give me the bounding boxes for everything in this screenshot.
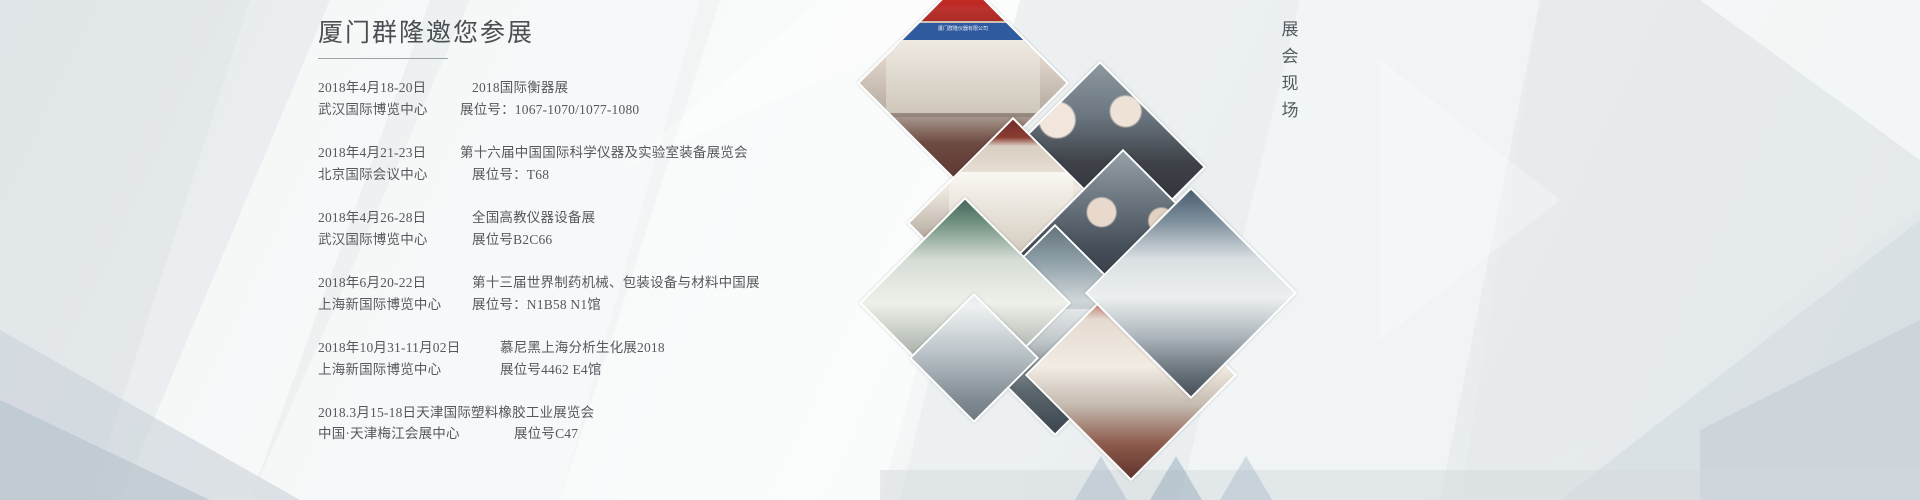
list-item: 2018年4月18-20日 2018国际衡器展 武汉国际博览中心 展位号：106… bbox=[318, 77, 1078, 121]
list-item: 2018.3月15-18日天津国际塑料橡胶工业展览会 中国·天津梅江会展中心 展… bbox=[318, 402, 1078, 444]
event-date: 2018年6月20-22日 bbox=[318, 272, 446, 294]
gallery-caption-c3: 现 bbox=[1278, 70, 1304, 97]
event-venue: 上海新国际博览中心 bbox=[318, 359, 474, 381]
invitation-panel: 厦门群隆邀您参展 2018年4月18-20日 2018国际衡器展 武汉国际博览中… bbox=[318, 18, 1078, 488]
list-item: 2018年10月31-11月02日 慕尼黑上海分析生化展2018 上海新国际博览… bbox=[318, 337, 1078, 381]
event-secondary-row: 北京国际会议中心 展位号：T68 bbox=[318, 164, 1078, 186]
event-booth: 展位号：T68 bbox=[446, 164, 549, 186]
event-date: 2018年4月26-28日 bbox=[318, 207, 446, 229]
event-primary-row: 2018年4月18-20日 2018国际衡器展 bbox=[318, 77, 1078, 99]
gallery-caption-c4: 场 bbox=[1278, 97, 1304, 124]
event-name: 2018国际衡器展 bbox=[446, 77, 568, 99]
page-title: 厦门群隆邀您参展 bbox=[318, 18, 1078, 51]
event-secondary-row: 上海新国际博览中心 展位号4462 E4馆 bbox=[318, 359, 1078, 381]
event-booth: 展位号4462 E4馆 bbox=[474, 359, 602, 381]
event-secondary-row: 上海新国际博览中心 展位号：N1B58 N1馆 bbox=[318, 294, 1078, 316]
event-venue: 中国·天津梅江会展中心 bbox=[318, 423, 508, 444]
event-venue: 武汉国际博览中心 bbox=[318, 99, 446, 121]
event-primary-row: 2018年4月26-28日 全国高教仪器设备展 bbox=[318, 207, 1078, 229]
event-date: 2018年4月21-23日 bbox=[318, 142, 446, 164]
list-item: 2018年4月26-28日 全国高教仪器设备展 武汉国际博览中心 展位号B2C6… bbox=[318, 207, 1078, 251]
title-underline bbox=[318, 58, 448, 59]
event-booth: 展位号：N1B58 N1馆 bbox=[446, 294, 601, 316]
event-name: 全国高教仪器设备展 bbox=[446, 207, 595, 229]
event-venue: 武汉国际博览中心 bbox=[318, 229, 446, 251]
list-item: 2018年4月21-23日 第十六届中国国际科学仪器及实验室装备展览会 北京国际… bbox=[318, 142, 1078, 186]
event-secondary-row: 中国·天津梅江会展中心 展位号C47 bbox=[318, 423, 1078, 444]
event-primary-row: 2018年4月21-23日 第十六届中国国际科学仪器及实验室装备展览会 bbox=[318, 142, 1078, 164]
list-item: 2018年6月20-22日 第十三届世界制药机械、包装设备与材料中国展 上海新国… bbox=[318, 272, 1078, 316]
event-venue: 北京国际会议中心 bbox=[318, 164, 446, 186]
event-booth: 展位号B2C66 bbox=[446, 229, 552, 251]
event-venue: 上海新国际博览中心 bbox=[318, 294, 446, 316]
exhibition-list: 2018年4月18-20日 2018国际衡器展 武汉国际博览中心 展位号：106… bbox=[318, 77, 1078, 444]
event-primary-row: 2018年6月20-22日 第十三届世界制药机械、包装设备与材料中国展 bbox=[318, 272, 1078, 294]
event-name: 第十六届中国国际科学仪器及实验室装备展览会 bbox=[446, 142, 748, 164]
event-secondary-row: 武汉国际博览中心 展位号B2C66 bbox=[318, 229, 1078, 251]
event-name: 第十三届世界制药机械、包装设备与材料中国展 bbox=[446, 272, 760, 294]
event-date: 2018.3月15-18日天津国际塑料橡胶工业展览会 bbox=[318, 402, 594, 423]
event-name: 慕尼黑上海分析生化展2018 bbox=[474, 337, 665, 359]
event-date: 2018年4月18-20日 bbox=[318, 77, 446, 99]
event-booth: 展位号C47 bbox=[508, 423, 578, 444]
gallery-caption-c2: 会 bbox=[1278, 43, 1304, 70]
event-date: 2018年10月31-11月02日 bbox=[318, 337, 474, 359]
event-primary-row: 2018年10月31-11月02日 慕尼黑上海分析生化展2018 bbox=[318, 337, 1078, 359]
event-secondary-row: 武汉国际博览中心 展位号：1067-1070/1077-1080 bbox=[318, 99, 1078, 121]
gallery-caption-c1: 展 bbox=[1278, 16, 1304, 43]
gallery-vertical-caption: 展 会 现 场 bbox=[1278, 16, 1304, 124]
event-booth: 展位号：1067-1070/1077-1080 bbox=[446, 99, 639, 121]
event-primary-row: 2018.3月15-18日天津国际塑料橡胶工业展览会 bbox=[318, 402, 1078, 423]
